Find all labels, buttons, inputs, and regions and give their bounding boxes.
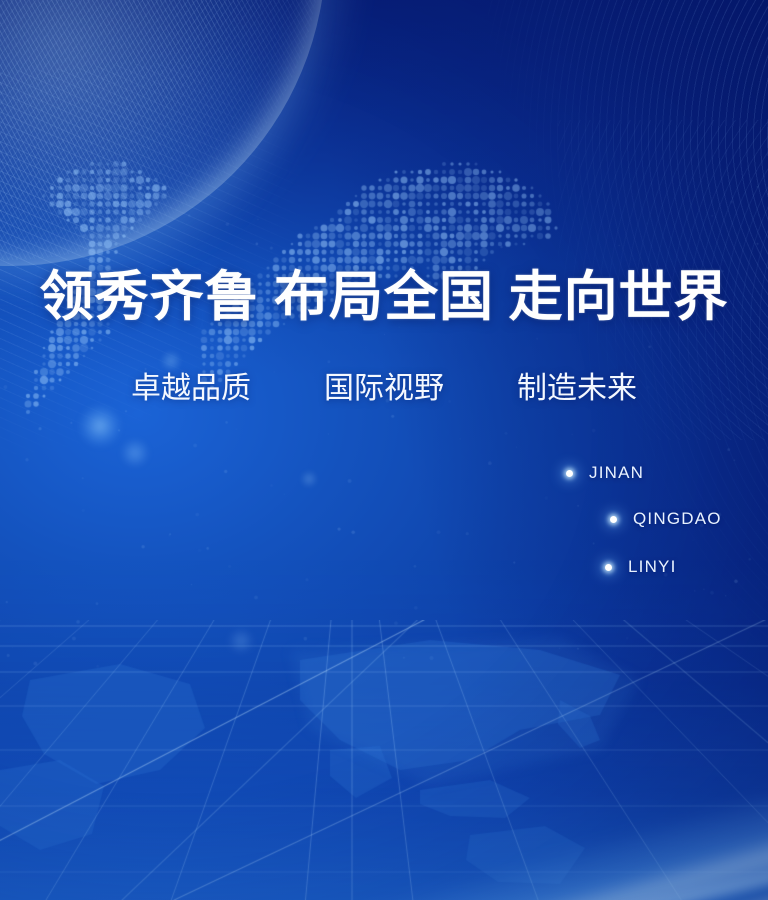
city-label: LINYI — [628, 557, 677, 577]
page-title: 领秀齐鲁 布局全国 走向世界 — [0, 268, 768, 326]
city-dot-icon — [566, 470, 573, 477]
banner-text-block: 领秀齐鲁 布局全国 走向世界 卓越品质 国际视野 制造未来 JINAN QING… — [0, 0, 768, 900]
banner-stage: 领秀齐鲁 布局全国 走向世界 卓越品质 国际视野 制造未来 JINAN QING… — [0, 0, 768, 900]
city-label: QINGDAO — [633, 509, 722, 529]
subtitle-part-1: 卓越品质 — [131, 372, 251, 405]
subtitle-part-2: 国际视野 — [324, 372, 444, 405]
subtitle-part-3: 制造未来 — [517, 372, 637, 405]
city-dot-icon — [610, 516, 617, 523]
city-marker-qingdao[interactable]: QINGDAO — [610, 509, 722, 529]
banner-subtitle: 卓越品质 国际视野 制造未来 — [0, 370, 768, 408]
city-label: JINAN — [589, 463, 644, 483]
city-marker-jinan[interactable]: JINAN — [566, 463, 644, 483]
city-marker-linyi[interactable]: LINYI — [605, 557, 677, 577]
city-dot-icon — [605, 564, 612, 571]
